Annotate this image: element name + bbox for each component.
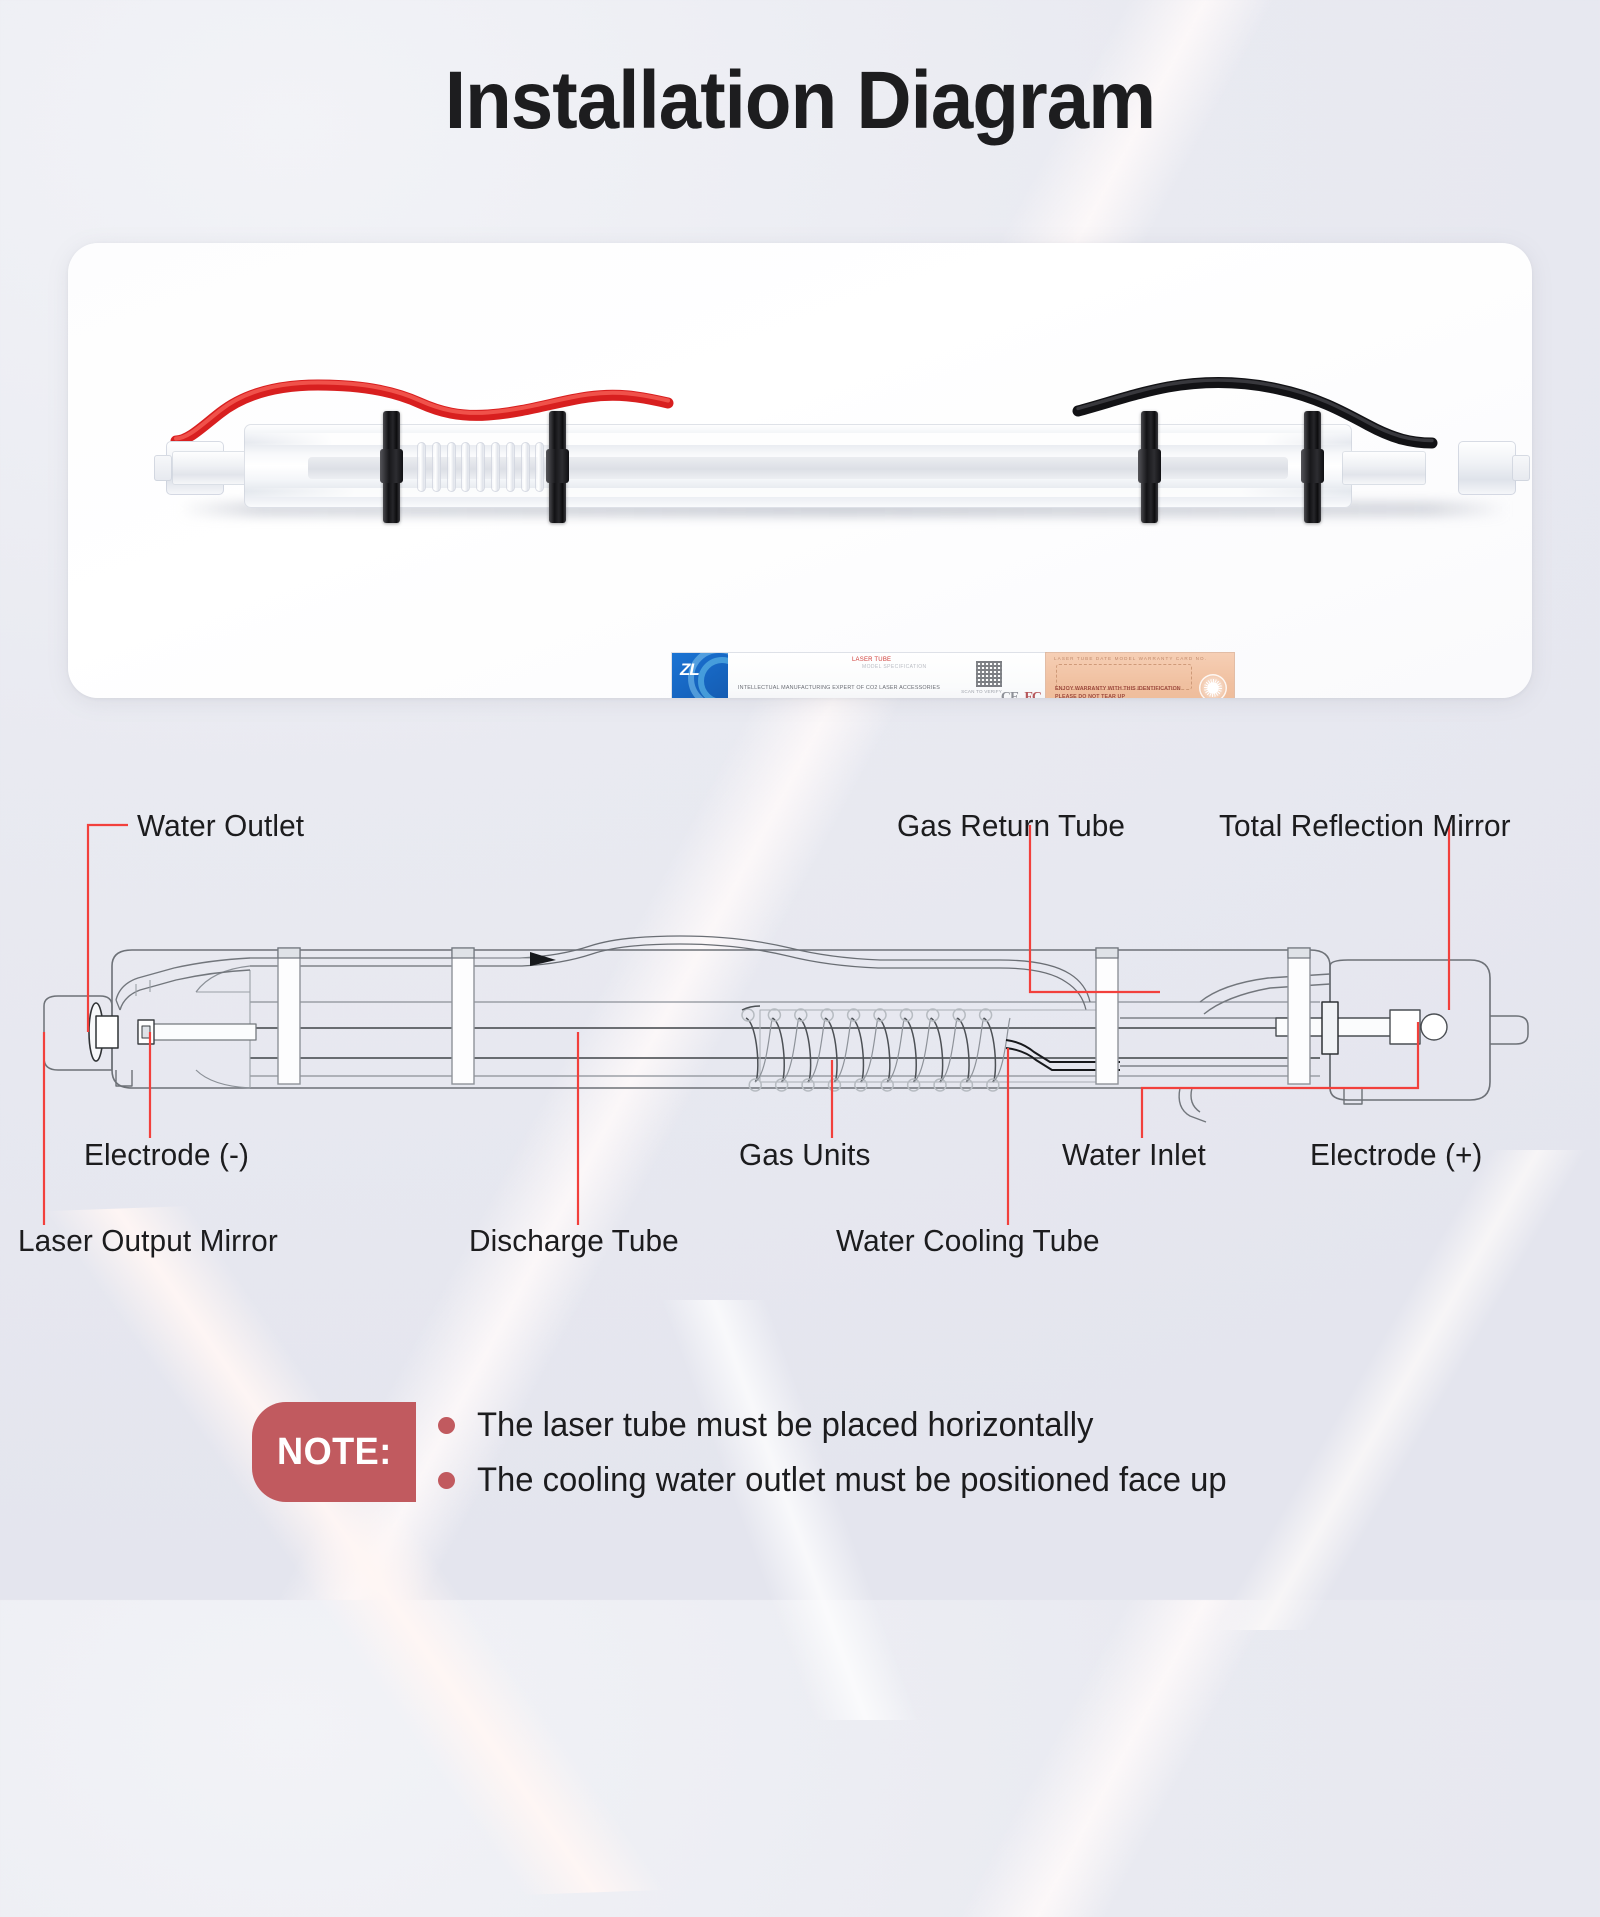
callout-label-water-outlet: Water Outlet <box>137 808 304 844</box>
label-red-text: LASER TUBE <box>852 657 891 663</box>
note-item: The cooling water outlet must be positio… <box>438 1453 1254 1508</box>
callout-label-electrode-positive: Electrode (+) <box>1310 1137 1482 1173</box>
tube-tip-left <box>154 455 172 481</box>
light-streak-center <box>340 1300 1240 1720</box>
co2-laser-tube-photo: ZL LASER TUBE MODEL SPECIFICATION INTELL… <box>68 243 1532 698</box>
tube-stem-right <box>1342 451 1426 485</box>
warranty-label: LASER TUBE DATE MODEL WARRANTY CARD NO. … <box>1046 653 1234 698</box>
note-block: NOTE: The laser tube must be placed hori… <box>252 1402 1572 1510</box>
fc-mark: FC <box>1024 690 1041 698</box>
note-badge-label: NOTE: <box>277 1431 392 1474</box>
label-faint-text: MODEL SPECIFICATION <box>862 664 927 670</box>
qr-caption: SCAN TO VERIFY <box>961 689 1002 694</box>
mounting-clamp <box>1304 411 1321 523</box>
mounting-clamp <box>1141 411 1158 523</box>
callout-label-water-inlet: Water Inlet <box>1062 1137 1206 1173</box>
label-tagline: INTELLECTUAL MANUFACTURING EXPERT OF CO2… <box>738 685 940 691</box>
tube-endcap-right <box>1458 441 1516 495</box>
certification-marks: CE FC <box>1001 690 1041 698</box>
callout-label-water-cooling-tube: Water Cooling Tube <box>836 1223 1100 1259</box>
callout-label-gas-return-tube: Gas Return Tube <box>897 808 1125 844</box>
warranty-notice: ENJOY WARRANTY WITH THIS IDENTIFICATION … <box>1055 686 1181 698</box>
bullet-dot-icon <box>438 1472 455 1489</box>
warranty-header: LASER TUBE DATE MODEL WARRANTY CARD NO. <box>1054 656 1207 661</box>
ce-mark: CE <box>1001 690 1018 698</box>
callout-label-electrode-negative: Electrode (-) <box>84 1137 249 1173</box>
warranty-seal-icon <box>1199 674 1227 698</box>
callout-label-total-reflection-mirror: Total Reflection Mirror <box>1219 808 1511 844</box>
mounting-clamp <box>383 411 400 523</box>
product-photo-card: ZL LASER TUBE MODEL SPECIFICATION INTELL… <box>68 243 1532 698</box>
brand-logo: ZL <box>680 660 699 680</box>
note-item: The laser tube must be placed horizontal… <box>438 1398 1254 1453</box>
tube-highlight-bottom <box>244 488 1352 497</box>
tube-highlight-top <box>244 433 1352 445</box>
product-label: ZL LASER TUBE MODEL SPECIFICATION INTELL… <box>672 653 1046 698</box>
bullet-dot-icon <box>438 1417 455 1434</box>
note-item-text: The laser tube must be placed horizontal… <box>477 1406 1093 1445</box>
note-badge: NOTE: <box>252 1402 416 1502</box>
qr-code <box>976 661 1002 687</box>
gas-unit-coil-photo <box>416 442 564 492</box>
page-title: Installation Diagram <box>56 54 1544 148</box>
tube-tip-right <box>1512 455 1530 481</box>
callout-label-laser-output-mirror: Laser Output Mirror <box>18 1223 278 1259</box>
note-item-text: The cooling water outlet must be positio… <box>477 1461 1227 1500</box>
callout-label-gas-units: Gas Units <box>739 1137 871 1173</box>
note-list: The laser tube must be placed horizontal… <box>438 1398 1254 1508</box>
mounting-clamp <box>549 411 566 523</box>
callout-label-discharge-tube: Discharge Tube <box>469 1223 679 1259</box>
